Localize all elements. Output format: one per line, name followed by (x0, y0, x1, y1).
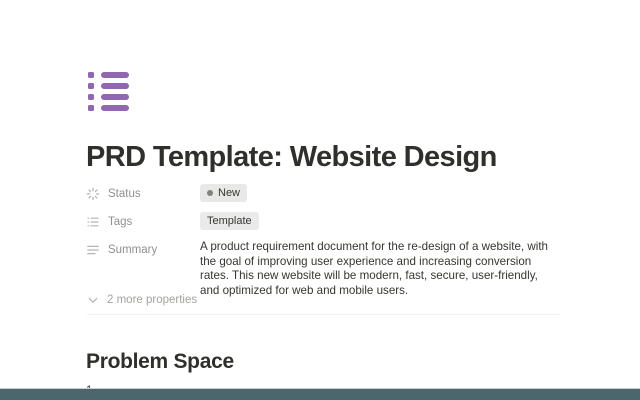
bulleted-list-icon-bar (101, 94, 129, 100)
bulleted-list-icon-dot (88, 83, 94, 89)
bulleted-list-icon-bar (101, 83, 129, 89)
property-label-text: Tags (108, 213, 132, 231)
document-page: PRD Template: Website Design (0, 0, 640, 400)
property-value-status[interactable]: New (200, 184, 566, 202)
section-heading-problem-space[interactable]: Problem Space (86, 348, 234, 376)
bulleted-list-icon[interactable] (88, 72, 134, 114)
property-label-summary: Summary (86, 240, 200, 259)
text-lines-icon (86, 243, 100, 257)
status-dot-icon (207, 190, 213, 196)
multi-select-icon (86, 215, 100, 229)
bulleted-list-icon-row (88, 83, 134, 89)
chevron-down-icon (86, 293, 100, 307)
tag-badge[interactable]: Template (200, 212, 259, 230)
summary-text: A product requirement document for the r… (200, 240, 555, 298)
property-label-text: Status (108, 185, 141, 203)
tag-badge-label: Template (207, 214, 252, 228)
status-badge[interactable]: New (200, 184, 247, 202)
property-row-status[interactable]: Status New (86, 184, 566, 204)
property-value-tags[interactable]: Template (200, 212, 566, 230)
status-spinner-icon (86, 187, 100, 201)
properties-divider (87, 314, 560, 315)
more-properties-toggle[interactable]: 2 more properties (86, 292, 197, 308)
properties-panel: Status New (86, 184, 566, 306)
status-badge-label: New (218, 186, 240, 200)
more-properties-label: 2 more properties (107, 292, 197, 308)
property-label-status: Status (86, 184, 200, 203)
property-label-tags: Tags (86, 212, 200, 231)
property-value-summary[interactable]: A product requirement document for the r… (200, 240, 566, 298)
property-label-text: Summary (108, 241, 157, 259)
bulleted-list-icon-dot (88, 94, 94, 100)
bulleted-list-icon-dot (88, 72, 94, 78)
page-title[interactable]: PRD Template: Website Design (86, 138, 497, 176)
property-row-tags[interactable]: Tags Template (86, 212, 566, 232)
bulleted-list-icon-bar (101, 72, 129, 78)
bulleted-list-icon-row (88, 105, 134, 111)
bottom-status-bar (0, 389, 640, 400)
bulleted-list-icon-dot (88, 105, 94, 111)
bulleted-list-icon-row (88, 94, 134, 100)
bulleted-list-icon-row (88, 72, 134, 78)
property-row-summary[interactable]: Summary A product requirement document f… (86, 240, 566, 298)
bulleted-list-icon-bar (101, 105, 129, 111)
